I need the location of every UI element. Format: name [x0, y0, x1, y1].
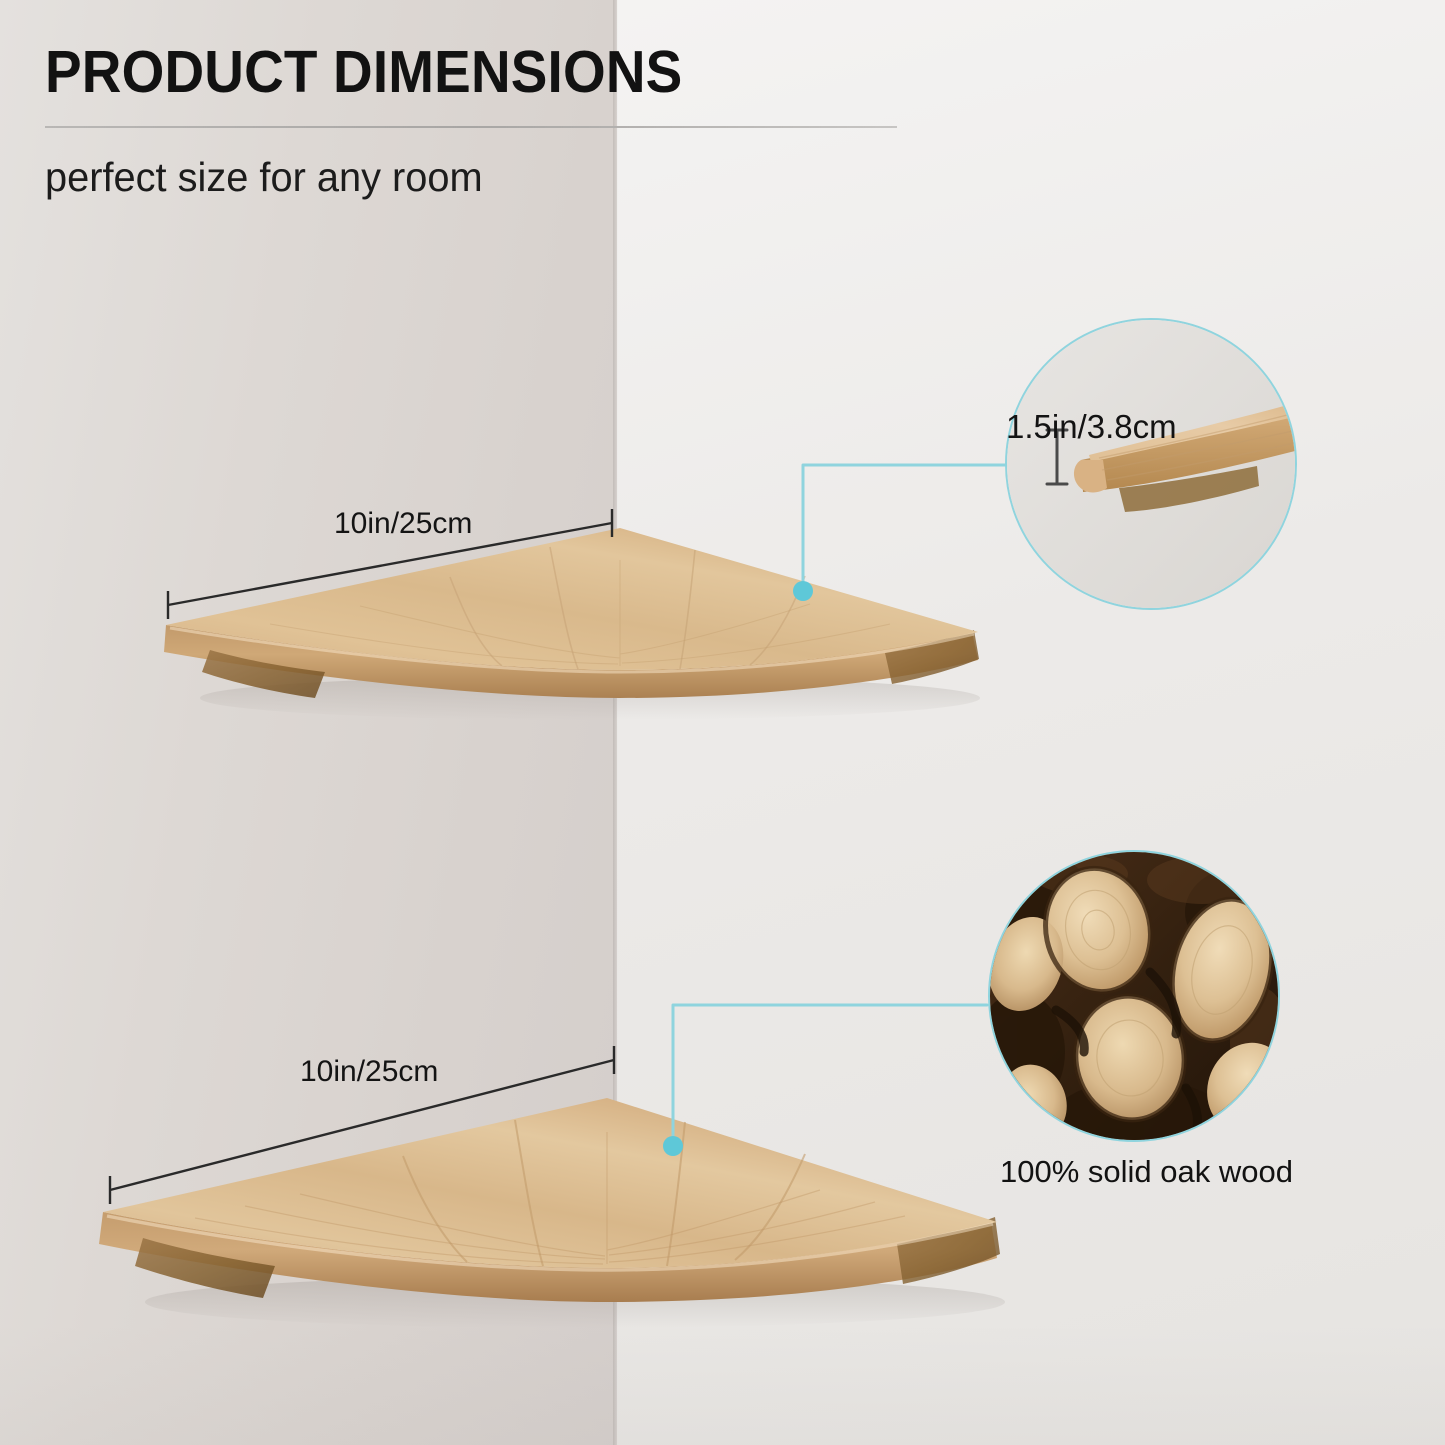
callout-circle-material [988, 850, 1280, 1142]
page-title: PRODUCT DIMENSIONS [45, 42, 863, 104]
callout-label-thickness: 1.5in/3.8cm [1006, 408, 1177, 446]
header-divider [45, 126, 897, 128]
product-dimensions-infographic: PRODUCT DIMENSIONS perfect size for any … [0, 0, 1445, 1445]
leader-line-thickness [795, 455, 1025, 605]
callout-label-material: 100% solid oak wood [1000, 1154, 1293, 1190]
header-block: PRODUCT DIMENSIONS perfect size for any … [45, 42, 925, 201]
dimension-label-upper-width: 10in/25cm [334, 507, 472, 541]
page-subtitle: perfect size for any room [45, 154, 899, 201]
floor-shadow [0, 1325, 1445, 1445]
callout-circle-thickness [1005, 318, 1297, 610]
dimension-label-lower-width: 10in/25cm [300, 1055, 438, 1089]
leader-line-material [665, 995, 995, 1160]
